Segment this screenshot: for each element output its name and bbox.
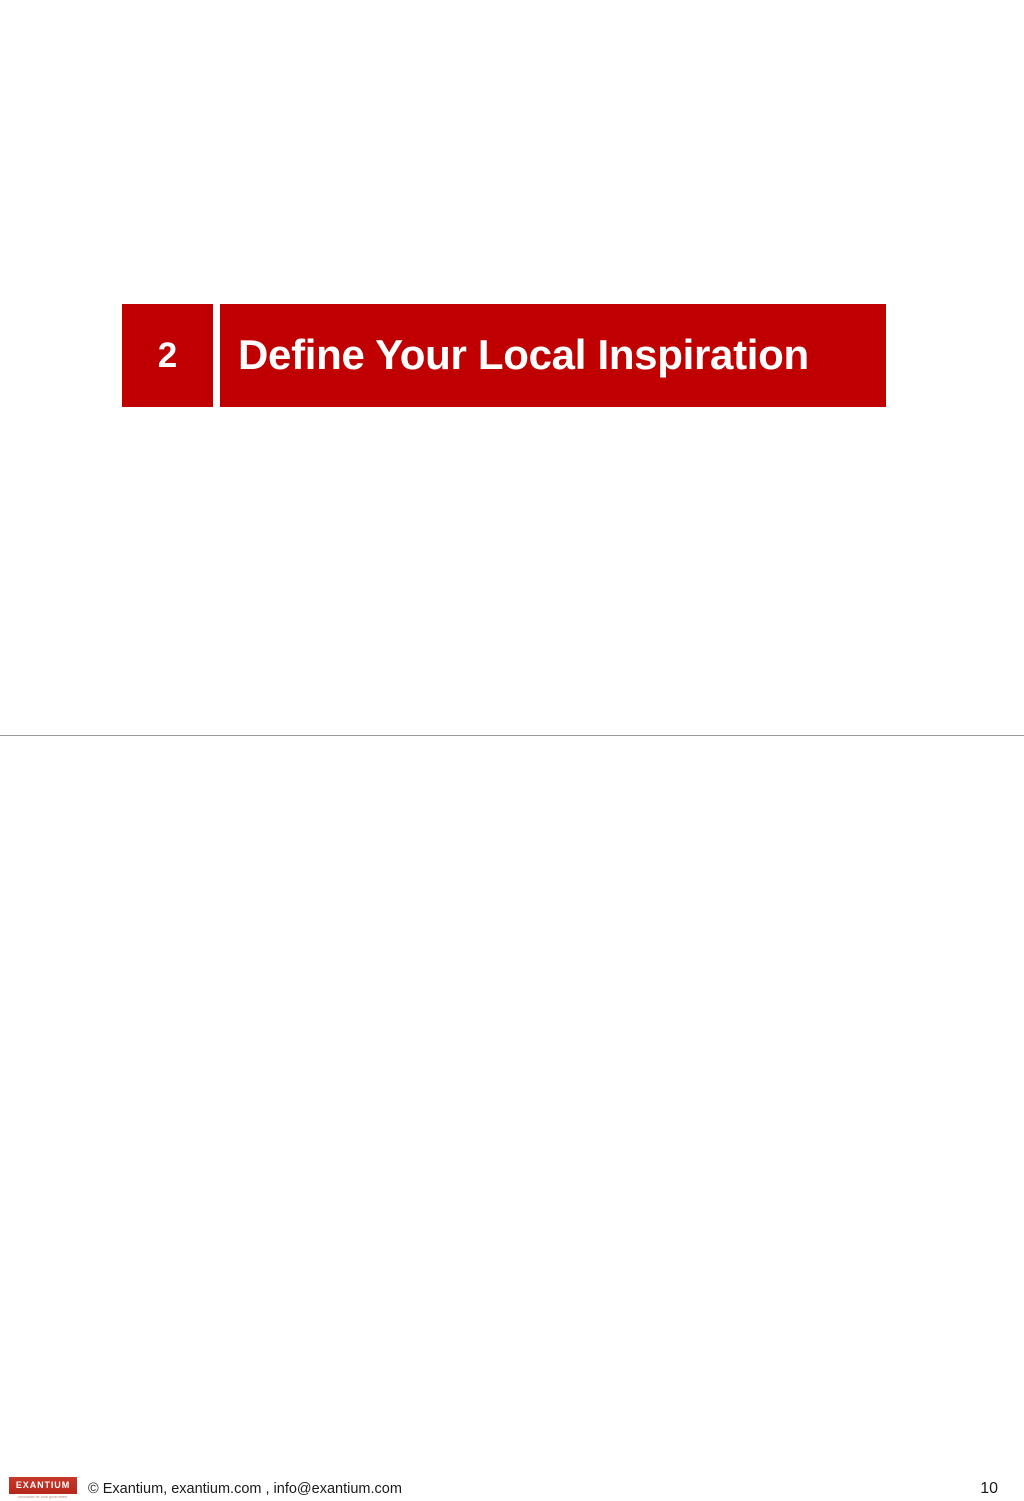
section-title-box: Define Your Local Inspiration <box>220 304 886 407</box>
footer-copyright: © Exantium, exantium.com , info@exantium… <box>88 1480 402 1498</box>
section-number-box: 2 <box>122 304 213 407</box>
section-number: 2 <box>158 338 177 373</box>
logo-wordmark: EXANTIUM <box>16 1481 70 1490</box>
footer: EXANTIUM innovation for local government… <box>0 736 1024 768</box>
slide-canvas: 2 Define Your Local Inspiration EXANTIUM… <box>0 0 1024 768</box>
exantium-logo: EXANTIUM innovation for local government <box>9 1477 77 1501</box>
page-number: 10 <box>958 1479 998 1499</box>
page-title: Define Your Local Inspiration <box>238 333 809 377</box>
banner-divider-gap <box>213 304 220 407</box>
logo-tagline: innovation for local government <box>9 1495 77 1500</box>
section-banner: 2 Define Your Local Inspiration <box>122 304 886 407</box>
logo-mark: EXANTIUM <box>9 1477 77 1494</box>
